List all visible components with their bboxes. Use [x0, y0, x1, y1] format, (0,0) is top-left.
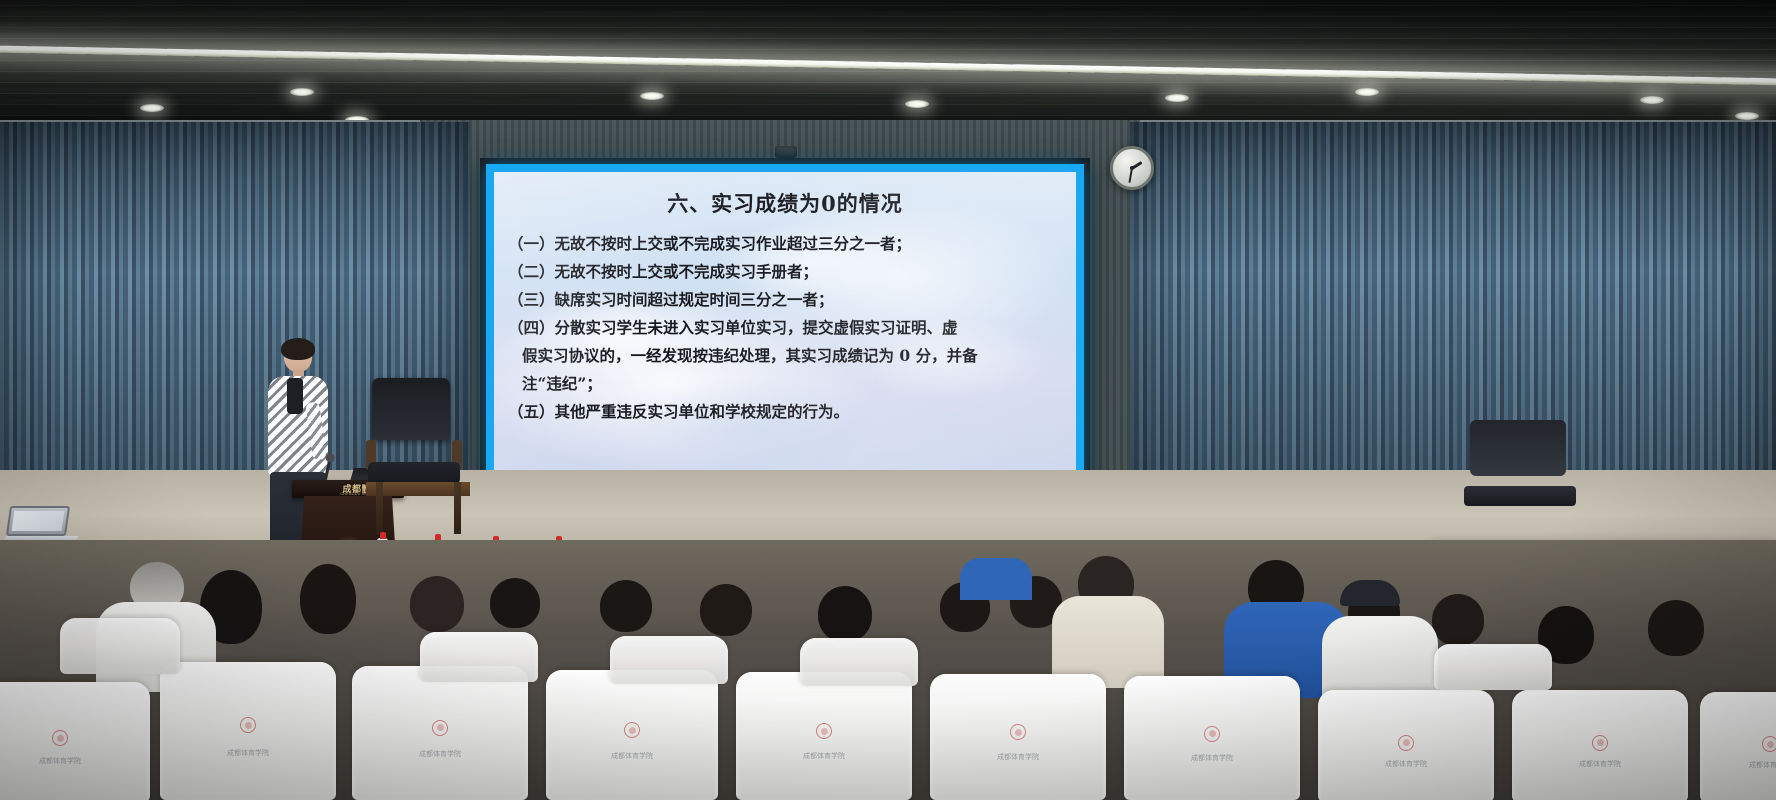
slide-body: （一）无故不按时上交或不完成实习作业超过三分之一者； （二）无故不按时上交或不完… [508, 230, 1062, 426]
audience-head [600, 580, 652, 632]
audience-seat: 成都体育学院 [0, 682, 150, 800]
audience-seat: 成都体育学院 [1700, 692, 1776, 800]
audience-seat [800, 638, 918, 686]
slide-line: 假实习协议的，一经发现按违纪处理，其实习成绩记为 0 分，并备 [508, 342, 1062, 370]
chair-leg [376, 482, 383, 534]
seat-emblem-icon [432, 720, 448, 736]
ceiling-downlight [290, 88, 314, 96]
audience-seat: 成都体育学院 [1512, 690, 1688, 800]
ceiling-downlight [1735, 112, 1759, 120]
audience-torso [960, 558, 1032, 600]
audience-seat: 成都体育学院 [1124, 676, 1300, 800]
seat-emblem-icon [1204, 726, 1220, 742]
wall-clock [1110, 146, 1154, 190]
wall-sensor-icon [775, 146, 797, 158]
audience-seat [60, 618, 180, 674]
chair-seat [368, 462, 460, 484]
chair-backrest [1470, 420, 1566, 476]
audience-seat [1434, 644, 1552, 690]
audience-head [490, 578, 540, 628]
seat-logo-text: 成都体育学院 [419, 749, 461, 759]
chair-leg [454, 482, 461, 534]
slide-title: 六、实习成绩为0的情况 [508, 188, 1062, 218]
audience-seat [610, 636, 728, 684]
presentation-slide: 六、实习成绩为0的情况 （一）无故不按时上交或不完成实习作业超过三分之一者； （… [494, 172, 1076, 472]
audience-head [300, 564, 356, 634]
seat-emblem-icon [1398, 735, 1414, 751]
right-side-chair [1470, 420, 1590, 540]
seat-logo-text: 成都体育学院 [1385, 759, 1427, 769]
seat-emblem-icon [1762, 736, 1776, 752]
seat-emblem-icon [816, 723, 832, 739]
audience-cap-icon [1340, 580, 1400, 606]
presenter-hair [281, 338, 315, 360]
ceiling-downlight [140, 104, 164, 112]
seat-emblem-icon [240, 717, 256, 733]
seat-emblem-icon [1010, 724, 1026, 740]
seat-logo-text: 成都体育学院 [1579, 759, 1621, 769]
audience-head [818, 586, 872, 642]
screen-bezel: 六、实习成绩为0的情况 （一）无故不按时上交或不完成实习作业超过三分之一者； （… [486, 164, 1084, 480]
slide-line: 注“违纪”； [508, 370, 1062, 398]
audience-head [410, 576, 464, 632]
ceiling [0, 0, 1776, 128]
audience-head [1648, 600, 1704, 656]
seat-logo-text: 成都体育学院 [997, 752, 1039, 762]
audience-area: 成都体育学院 成都体育学院 成都体育学院 成都体育学院 成都体育学院 成都体育学… [0, 540, 1776, 800]
seat-emblem-icon [624, 722, 640, 738]
slide-line: （一）无故不按时上交或不完成实习作业超过三分之一者； [508, 230, 1062, 258]
seat-logo-text: 成都体育学院 [803, 751, 845, 761]
seat-emblem-icon [1592, 735, 1608, 751]
ceiling-downlight [1640, 96, 1664, 104]
audience-seat: 成都体育学院 [352, 666, 528, 800]
seat-logo-text: 成都体育学院 [227, 748, 269, 758]
seat-logo-text: 成都体育学院 [611, 751, 653, 761]
lecture-hall-photo: 六、实习成绩为0的情况 （一）无故不按时上交或不完成实习作业超过三分之一者； （… [0, 0, 1776, 800]
audience-seat: 成都体育学院 [160, 662, 336, 800]
slide-line: （四）分散实习学生未进入实习单位实习，提交虚假实习证明、虚 [508, 314, 1062, 342]
slide-line: （二）无故不按时上交或不完成实习手册者； [508, 258, 1062, 286]
clock-center-dot [1130, 166, 1134, 170]
chair-seat [1464, 486, 1576, 506]
seat-logo-text: 成都体育学院 [39, 756, 81, 766]
stage-chair [372, 378, 468, 538]
presenter-inner-top [287, 378, 303, 414]
audience-seat: 成都体育学院 [1318, 690, 1494, 800]
laptop-screen [6, 506, 70, 536]
ceiling-downlight [1355, 88, 1379, 96]
slide-line: （三）缺席实习时间超过规定时间三分之一者； [508, 286, 1062, 314]
seat-emblem-icon [52, 730, 68, 746]
clock-minute-hand [1128, 168, 1133, 183]
chair-backrest [372, 378, 450, 440]
seat-logo-text: 成都体育学院 [1749, 760, 1776, 770]
ceiling-downlight [905, 100, 929, 108]
audience-head [700, 584, 752, 636]
audience-seat: 成都体育学院 [546, 670, 718, 800]
ceiling-downlight [640, 92, 664, 100]
audience-seat: 成都体育学院 [930, 674, 1106, 800]
projection-screen: 六、实习成绩为0的情况 （一）无故不按时上交或不完成实习作业超过三分之一者； （… [480, 158, 1090, 486]
slide-line: （五）其他严重违反实习单位和学校规定的行为。 [508, 398, 1062, 426]
seat-logo-text: 成都体育学院 [1191, 753, 1233, 763]
audience-seat: 成都体育学院 [736, 672, 912, 800]
audience-head [1432, 594, 1484, 646]
ceiling-downlight [1165, 94, 1189, 102]
audience-seat [420, 632, 538, 682]
